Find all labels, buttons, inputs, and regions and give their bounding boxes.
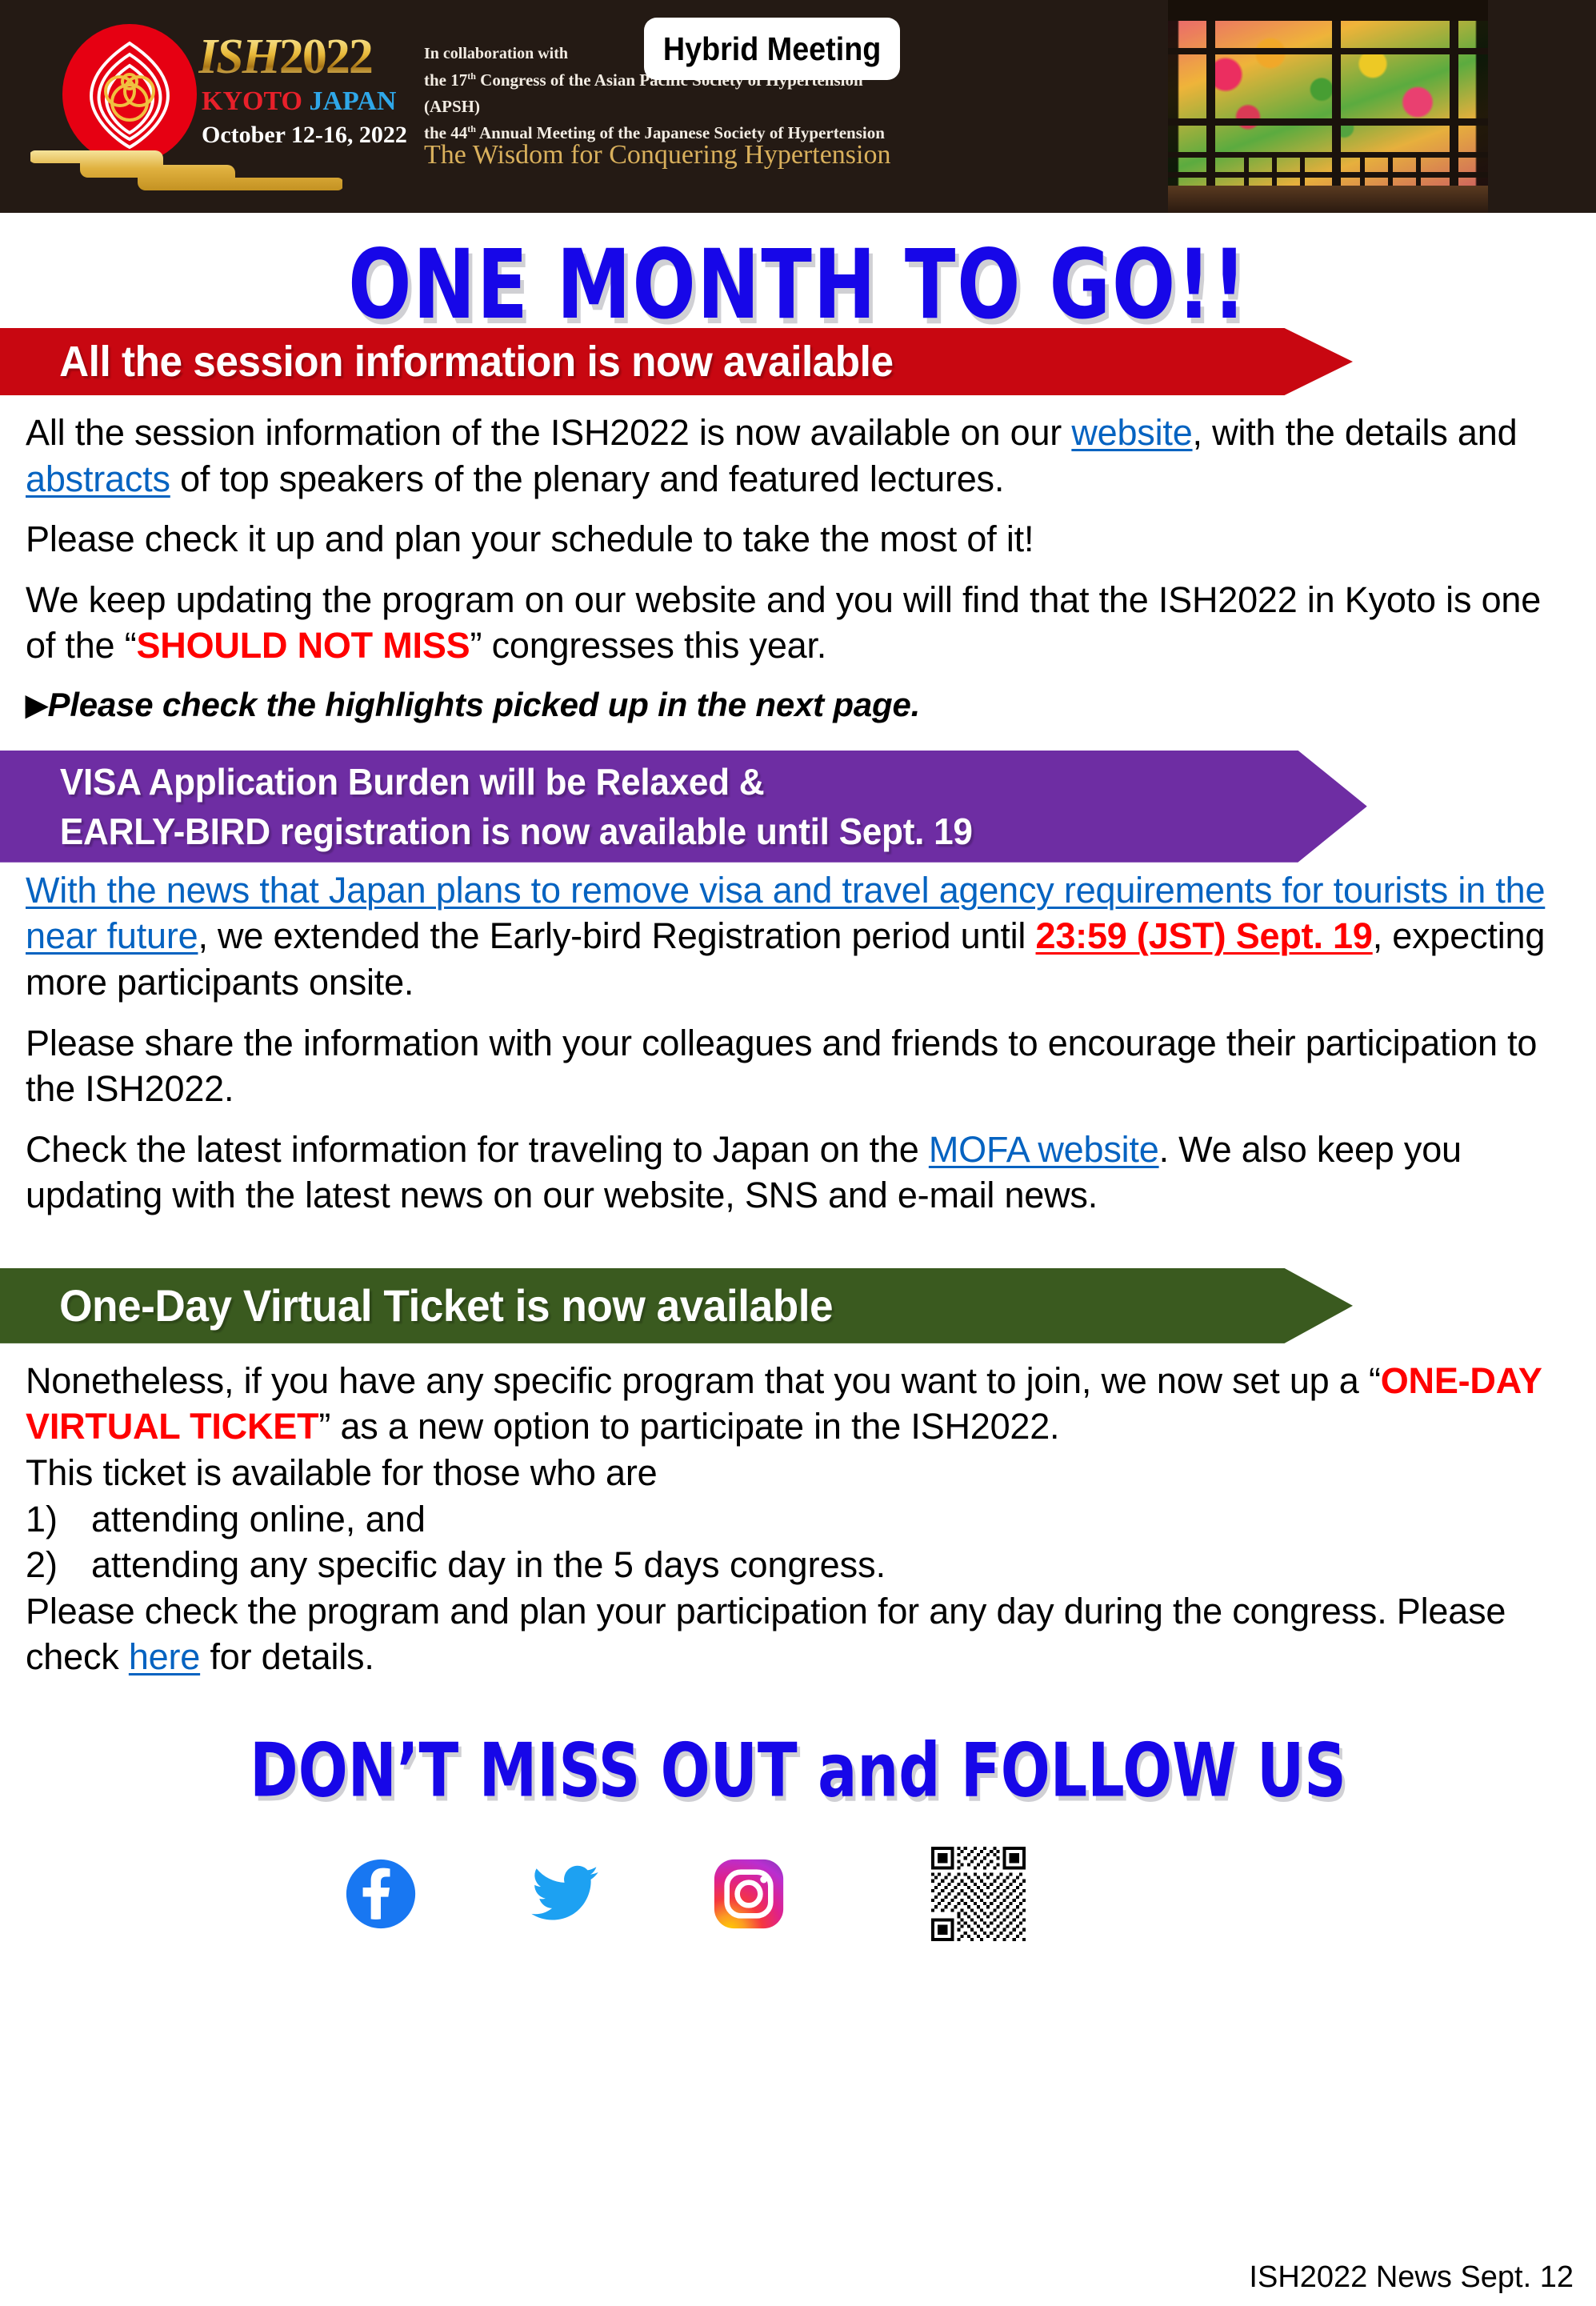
visa-paragraph-2: Please share the information with your c… (26, 1020, 1572, 1112)
banner-visa-line-2: EARLY-BIRD registration is now available… (60, 807, 973, 856)
collab-line2-pre: the 17 (424, 70, 467, 90)
instagram-link[interactable] (712, 1857, 786, 1931)
photo-foliage (1168, 0, 1488, 213)
ish2022-logo: ISH2022 KYOTO JAPAN October 12-16, 2022 (24, 10, 400, 210)
banner-session-information-label: All the session information is now avail… (59, 337, 893, 386)
hybrid-meeting-label: Hybrid Meeting (663, 30, 881, 68)
facebook-icon (344, 1857, 418, 1931)
here-link[interactable]: here (129, 1636, 200, 1677)
logo-date-label: October 12-16, 2022 (202, 123, 407, 147)
visa-paragraph-3: Check the latest information for traveli… (26, 1127, 1572, 1219)
list-item-number: 2) (26, 1542, 91, 1588)
session-p3-b: ” congresses this year. (470, 625, 827, 666)
follow-us-title: DON’T MISS OUT and FOLLOW US (32, 1727, 1564, 1816)
ticket-section-body: Nonetheless, if you have any specific pr… (0, 1358, 1596, 1680)
kyoto-temple-photo (1168, 0, 1488, 213)
newsletter-issue-note: ISH2022 News Sept. 12 (1249, 2260, 1574, 2295)
list-item-label: attending online, and (91, 1496, 426, 1543)
banner-visa-line-1: VISA Application Burden will be Relaxed … (60, 757, 973, 807)
banner-session-information: All the session information is now avail… (0, 328, 1353, 395)
collab-line3-sup: th (467, 123, 476, 134)
list-item: 2) attending any specific day in the 5 d… (26, 1542, 1572, 1588)
logo-knot-icon (74, 34, 186, 155)
visa-paragraph-1: With the news that Japan plans to remove… (26, 867, 1572, 1006)
ticket-p3-b: for details. (200, 1636, 374, 1677)
website-link[interactable]: website (1071, 412, 1192, 453)
facebook-link[interactable] (344, 1857, 418, 1931)
triangle-marker-icon: ▶ (26, 688, 48, 721)
visa-section-body: With the news that Japan plans to remove… (0, 867, 1596, 1219)
session-next-page-text: Please check the highlights picked up in… (48, 686, 921, 723)
ticket-paragraph-3: Please check the program and plan your p… (26, 1588, 1572, 1680)
session-p1-a: All the session information of the ISH20… (26, 412, 1071, 453)
abstracts-link[interactable]: abstracts (26, 458, 170, 499)
header-banner: ISH2022 KYOTO JAPAN October 12-16, 2022 … (0, 0, 1596, 213)
photo-eave (1168, 0, 1488, 21)
visa-p3-a: Check the latest information for traveli… (26, 1129, 929, 1170)
qr-code[interactable] (931, 1847, 1026, 1941)
banner-one-day-ticket-label: One-Day Virtual Ticket is now available (59, 1279, 833, 1331)
header-tagline: The Wisdom for Conquering Hypertension (424, 140, 890, 170)
session-paragraph-3: We keep updating the program on our webs… (26, 577, 1572, 669)
should-not-miss-highlight: SHOULD NOT MISS (136, 625, 470, 666)
list-item: 1) attending online, and (26, 1496, 1572, 1543)
social-links-row (0, 1847, 1596, 1941)
logo-city-country: KYOTO JAPAN (202, 88, 396, 115)
instagram-icon (712, 1857, 786, 1931)
ticket-paragraph-2: This ticket is available for those who a… (26, 1450, 1572, 1496)
logo-japan-label: JAPAN (309, 86, 396, 116)
session-paragraph-2: Please check it up and plan your schedul… (26, 516, 1572, 562)
session-paragraph-1: All the session information of the ISH20… (26, 410, 1572, 502)
session-p1-c: of top speakers of the plenary and featu… (170, 458, 1004, 499)
ticket-p1-a: Nonetheless, if you have any specific pr… (26, 1360, 1381, 1401)
twitter-icon (528, 1857, 602, 1931)
twitter-link[interactable] (528, 1857, 602, 1931)
ticket-p1-b: ” as a new option to participate in the … (318, 1406, 1059, 1447)
banner-one-day-ticket: One-Day Virtual Ticket is now available (0, 1268, 1353, 1343)
session-next-page-note: ▶Please check the highlights picked up i… (26, 683, 1572, 727)
page-title: ONE MONTH TO GO!! (40, 234, 1556, 343)
list-item-number: 1) (26, 1496, 91, 1543)
banner-visa-earlybird: VISA Application Burden will be Relaxed … (0, 751, 1367, 863)
list-item-label: attending any specific day in the 5 days… (91, 1542, 886, 1588)
session-p1-b: , with the details and (1193, 412, 1518, 453)
ticket-paragraph-1: Nonetheless, if you have any specific pr… (26, 1358, 1572, 1450)
visa-p1-mid: , we extended the Early-bird Registratio… (198, 915, 1035, 956)
collab-line2-sup: th (467, 70, 476, 82)
logo-year-label: 2022 (279, 30, 372, 84)
photo-floor (1168, 186, 1488, 213)
session-information-body: All the session information of the ISH20… (0, 410, 1596, 727)
logo-kyoto-label: KYOTO (202, 86, 302, 116)
earlybird-deadline-highlight: 23:59 (JST) Sept. 19 (1036, 915, 1373, 956)
logo-gold-swoosh (30, 146, 342, 195)
mofa-website-link[interactable]: MOFA website (929, 1129, 1159, 1170)
logo-ish-label: ISH (198, 30, 279, 84)
hybrid-meeting-badge: Hybrid Meeting (644, 18, 900, 80)
logo-ish-text: ISH2022 (198, 32, 372, 82)
